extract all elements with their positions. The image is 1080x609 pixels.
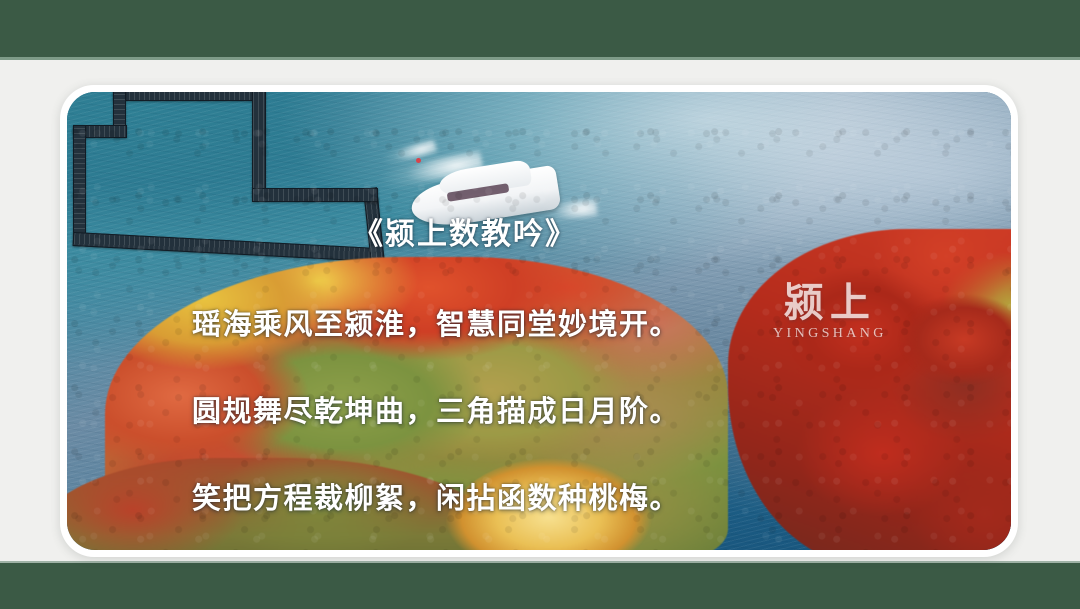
boardwalk-segment: [73, 125, 86, 245]
boardwalk-icon: [113, 92, 265, 101]
boardwalk-segment: [252, 92, 266, 198]
poem-line-2: 圆规舞尽乾坤曲，三角描成日月阶。: [192, 388, 680, 430]
speedboat-flag: [416, 158, 421, 163]
foliage-right-shore: [728, 229, 1011, 550]
poem-line-3: 笑把方程裁柳絮，闲拈函数种桃梅。: [192, 475, 680, 517]
top-band-divider: [0, 57, 1080, 60]
bottom-band-divider: [0, 561, 1080, 563]
photo-card[interactable]: 《颍上数教吟》 瑶海乘风至颍淮，智慧同堂妙境开。 圆规舞尽乾坤曲，三角描成日月阶…: [60, 85, 1018, 557]
poster-page: 《颍上数教吟》 瑶海乘风至颍淮，智慧同堂妙境开。 圆规舞尽乾坤曲，三角描成日月阶…: [0, 0, 1080, 609]
top-green-band: [0, 0, 1080, 57]
poem-title: 《颍上数教吟》: [353, 209, 577, 253]
bottom-green-band: [0, 563, 1080, 609]
aerial-photo: 《颍上数教吟》 瑶海乘风至颍淮，智慧同堂妙境开。 圆规舞尽乾坤曲，三角描成日月阶…: [67, 92, 1011, 550]
poem-line-1: 瑶海乘风至颍淮，智慧同堂妙境开。: [192, 301, 680, 343]
